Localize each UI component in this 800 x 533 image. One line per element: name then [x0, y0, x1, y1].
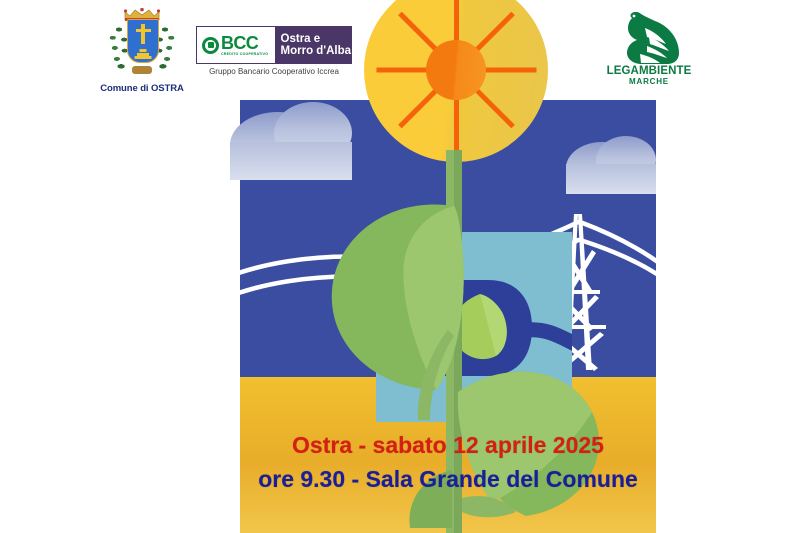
- bcc-branch-line-1: Ostra e: [281, 33, 351, 45]
- swan-icon: [597, 8, 701, 66]
- logo-legambiente: LEGAMBIENTE MARCHE: [597, 8, 701, 86]
- event-time-venue-line: ore 9.30 - Sala Grande del Comune: [240, 462, 656, 496]
- bcc-subtitle: CREDITO COOPERATIVO: [221, 53, 268, 57]
- leaf-icon: [332, 204, 464, 390]
- logo-bcc: BCC CREDITO COOPERATIVO Ostra e Morro d'…: [196, 26, 352, 76]
- shield-icon: [127, 19, 159, 63]
- comune-caption: Comune di OSTRA: [96, 83, 188, 94]
- legambiente-region: MARCHE: [597, 77, 701, 86]
- bcc-branch-line-2: Morro d'Alba: [281, 45, 351, 57]
- legambiente-name: LEGAMBIENTE: [597, 65, 701, 77]
- event-date-line: Ostra - sabato 12 aprile 2025: [240, 428, 656, 462]
- bcc-group-line: Gruppo Bancario Cooperativo Iccrea: [196, 67, 352, 76]
- coat-of-arms-icon: [96, 6, 188, 82]
- laurel-knot-icon: [132, 66, 152, 74]
- bcc-knot-icon: [202, 37, 219, 54]
- bcc-brand-block: BCC CREDITO COOPERATIVO: [197, 27, 275, 63]
- bcc-branch-block: Ostra e Morro d'Alba: [275, 27, 351, 63]
- logo-bar: Comune di OSTRA BCC CREDITO COOPERATIVO …: [0, 0, 800, 110]
- logo-comune-ostra: Comune di OSTRA: [96, 6, 188, 104]
- bcc-wordmark: BCC: [221, 34, 268, 52]
- bcc-logo-bar: BCC CREDITO COOPERATIVO Ostra e Morro d'…: [196, 26, 352, 64]
- event-caption: Ostra - sabato 12 aprile 2025 ore 9.30 -…: [240, 428, 656, 500]
